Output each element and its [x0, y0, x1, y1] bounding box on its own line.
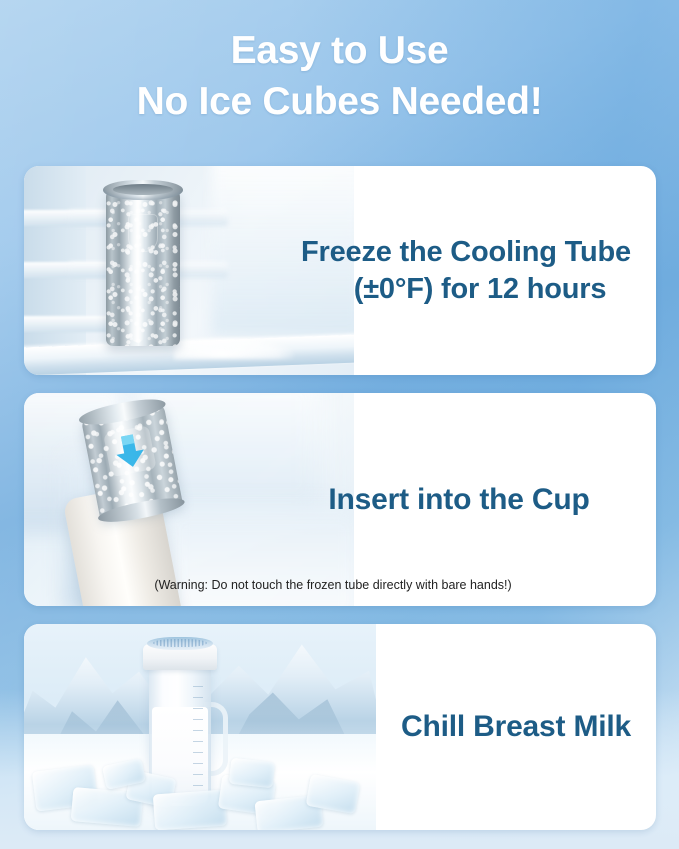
- page-title: Easy to Use No Ice Cubes Needed!: [0, 26, 679, 127]
- bottle-lid: [143, 644, 217, 670]
- tube-cap-opening: [113, 184, 173, 195]
- ice-cube: [153, 790, 227, 830]
- ice-cube: [229, 758, 275, 788]
- chill-headline: Chill Breast Milk: [401, 708, 631, 746]
- freeze-text-block: Freeze the Cooling Tube (±0°F) for 12 ho…: [276, 166, 656, 375]
- step-card-freeze: Freeze the Cooling Tube (±0°F) for 12 ho…: [24, 166, 656, 375]
- insert-text-block: Insert into the Cup: [262, 393, 656, 606]
- step-card-insert: Insert into the Cup (Warning: Do not tou…: [24, 393, 656, 606]
- cooling-tube: [106, 188, 180, 346]
- bottle-lid-mesh: [153, 639, 207, 647]
- step-card-chill: Chill Breast Milk: [24, 624, 656, 830]
- tube-embossed-badge: [128, 214, 158, 252]
- chill-photo: [24, 624, 376, 830]
- insert-warning-text: (Warning: Do not touch the frozen tube d…: [24, 578, 642, 592]
- freeze-headline-line-1: Freeze the Cooling Tube: [301, 236, 631, 268]
- title-line-1: Easy to Use: [0, 26, 679, 77]
- title-line-2: No Ice Cubes Needed!: [0, 77, 679, 128]
- bottle-measurement-scale: [193, 686, 203, 790]
- chill-text-block: Chill Breast Milk: [376, 624, 656, 830]
- tube-cap: [103, 180, 183, 200]
- down-arrow-icon: [103, 426, 157, 478]
- freeze-headline-line-2: (±0°F) for 12 hours: [329, 271, 631, 308]
- insert-headline: Insert into the Cup: [328, 481, 589, 519]
- freeze-headline: Freeze the Cooling Tube (±0°F) for 12 ho…: [301, 234, 631, 307]
